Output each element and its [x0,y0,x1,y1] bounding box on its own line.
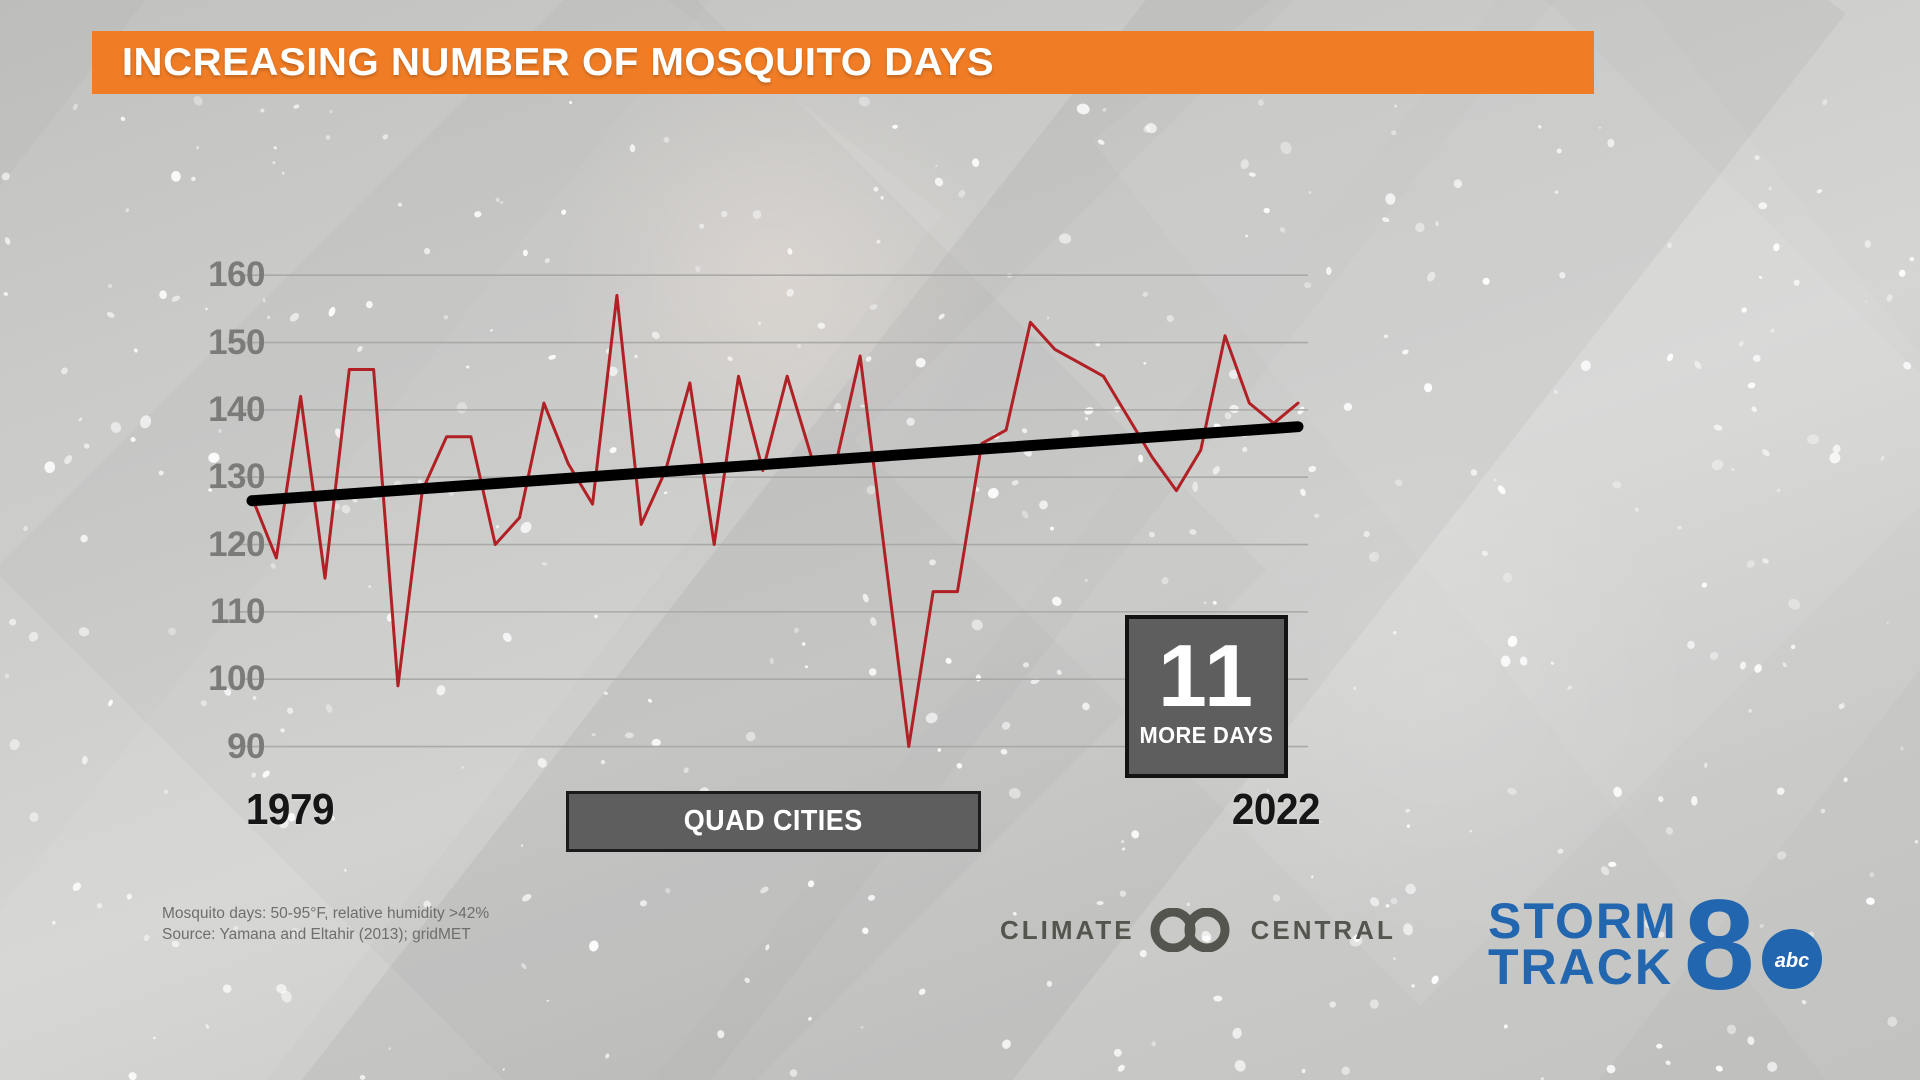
y-axis-tick-label: 130 [208,457,265,497]
y-axis-tick-label: 110 [210,592,265,632]
city-name: QUAD CITIES [684,805,863,838]
more-days-callout: 11 MORE DAYS [1125,615,1288,778]
storm-track-wordmark: STORM TRACK [1488,898,1678,990]
climate-central-word-1: CLIMATE [1000,915,1135,946]
y-axis-tick-label: 100 [208,659,265,699]
source-line-1: Mosquito days: 50-95°F, relative humidit… [162,903,489,924]
x-axis-end-year: 2022 [1232,785,1320,835]
source-line-2: Source: Yamana and Eltahir (2013); gridM… [162,924,489,945]
track-word: TRACK [1488,944,1678,990]
y-axis-tick-label: 150 [208,323,265,363]
y-axis-tick-label: 90 [227,727,265,767]
svg-text:abc: abc [1775,950,1809,972]
infinity-rings-icon [1149,908,1237,952]
channel-number: 8 [1684,896,1755,996]
callout-value: 11 [1158,638,1255,714]
storm-track-8-logo: STORM TRACK 8 abc [1488,892,1823,996]
trend-line [252,427,1298,501]
callout-label: MORE DAYS [1140,722,1274,749]
source-note: Mosquito days: 50-95°F, relative humidit… [162,903,489,946]
y-axis-tick-label: 120 [208,525,265,565]
y-axis-tick-label: 140 [208,390,265,430]
y-axis-tick-label: 160 [208,255,265,295]
climate-central-word-2: CENTRAL [1251,915,1396,946]
climate-central-logo: CLIMATE CENTRAL [1000,908,1396,952]
storm-word: STORM [1488,898,1678,944]
city-label-box: QUAD CITIES [566,791,981,852]
abc-circle-icon: abc [1761,928,1823,990]
x-axis-start-year: 1979 [246,785,334,835]
